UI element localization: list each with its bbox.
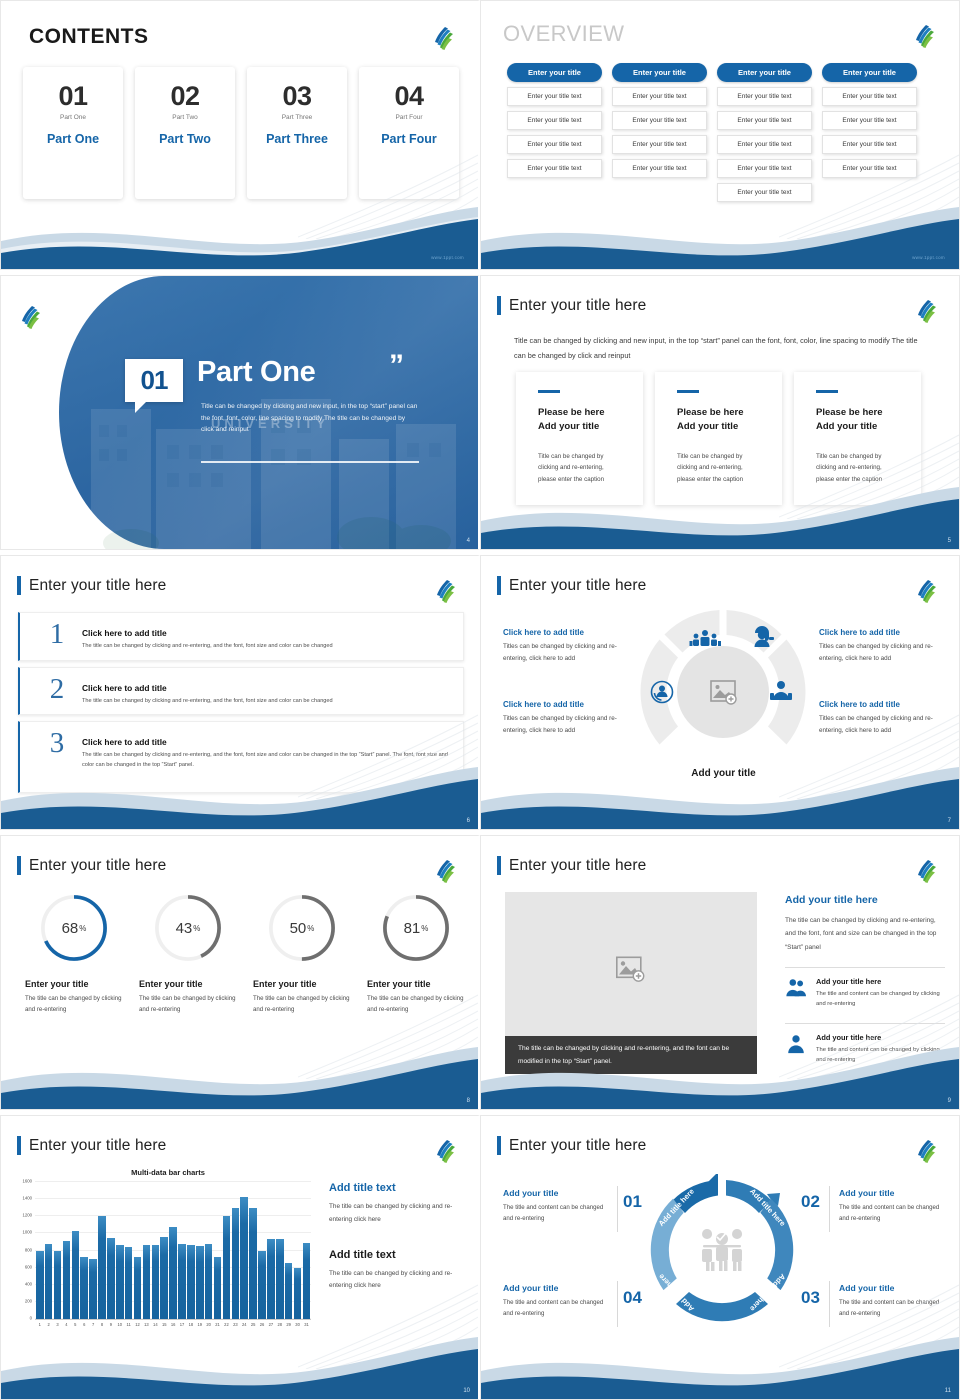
x-tick-label: 19 [196, 1322, 204, 1327]
cycle-block-01: Add your title The title and content can… [503, 1188, 615, 1225]
title-accent-bar [17, 856, 21, 875]
slide-numbered-list: Enter your title here 1 Click here to ad… [0, 555, 480, 830]
card-subtitle: Part Three [247, 114, 347, 121]
bar [54, 1251, 62, 1320]
cycle-divider [829, 1281, 830, 1327]
gauge-heading: Enter your title [253, 979, 351, 989]
page-number: 7 [948, 818, 951, 824]
overview-item[interactable]: Enter your title text [507, 159, 602, 178]
x-tick-label: 9 [107, 1322, 115, 1327]
bar [134, 1257, 142, 1319]
card-subtitle: Part One [23, 114, 123, 121]
page-number: 9 [948, 1098, 951, 1104]
divider-rule [201, 461, 419, 463]
cycle-block-04: Add your title The title and content can… [503, 1283, 615, 1320]
title-accent-bar [497, 576, 501, 595]
leaf-logo-icon [915, 578, 937, 604]
y-tick-label: 600 [25, 1264, 32, 1269]
page-title: Enter your title here [29, 857, 166, 875]
segmented-circle-diagram [636, 604, 811, 794]
overview-item[interactable]: Enter your title text [612, 135, 707, 154]
row-number: 3 [32, 730, 82, 758]
donut-gauge: 50% Enter your title The title can be ch… [253, 891, 351, 1016]
overview-item[interactable]: Enter your title text [822, 111, 917, 130]
cycle-number-04: 04 [623, 1288, 642, 1308]
bar [89, 1259, 97, 1319]
bar [116, 1245, 124, 1319]
overview-item[interactable]: Enter your title text [717, 183, 812, 202]
segment-heading: Click here to add title [503, 628, 631, 637]
right-text-column: Add your title here The title can be cha… [785, 894, 945, 1072]
footer-wave [481, 1337, 959, 1399]
overview-column: Enter your title Enter your title text E… [612, 63, 707, 202]
cycle-body: The title and content can be changed and… [839, 1202, 951, 1225]
cycle-heading: Add your title [503, 1283, 615, 1293]
footer-wave [1, 1047, 478, 1109]
leaf-logo-icon [19, 304, 41, 330]
slide-title-row: Enter your title here [497, 296, 646, 315]
x-tick-label: 14 [152, 1322, 160, 1327]
leaf-logo-icon [915, 858, 937, 884]
bar [169, 1227, 177, 1319]
overview-item[interactable]: Enter your title text [822, 135, 917, 154]
donut-gauge: 43% Enter your title The title can be ch… [139, 891, 237, 1016]
progress-ring: 43% [151, 891, 225, 965]
card-list: Please be here Add your title Title can … [516, 372, 921, 505]
contents-card[interactable]: 04 Part Four Part Four [359, 67, 459, 199]
row-heading: Click here to add title [82, 628, 451, 638]
gauge-value: 68% [37, 891, 111, 965]
overview-item[interactable]: Enter your title text [822, 87, 917, 106]
single-person-icon [785, 1033, 807, 1055]
y-tick-label: 1000 [22, 1230, 32, 1235]
bar [98, 1216, 106, 1319]
row-number: 2 [32, 676, 82, 704]
segment-text-bottom-left: Click here to add title Titles can be ch… [503, 700, 631, 737]
x-tick-label: 3 [54, 1322, 62, 1327]
divider [785, 967, 945, 968]
donut-gauge: 68% Enter your title The title can be ch… [25, 891, 123, 1016]
section-number-badge: 01 [125, 359, 183, 402]
slide-overview: OVERVIEW Enter your title Enter your tit… [480, 0, 960, 270]
bar-chart: Multi-data bar charts 020040060080010001… [11, 1168, 311, 1338]
x-tick-label: 23 [232, 1322, 240, 1327]
y-tick-label: 1200 [22, 1213, 32, 1218]
x-tick-label: 16 [169, 1322, 177, 1327]
slide-three-cards: Enter your title here Title can be chang… [480, 275, 960, 550]
gauge-heading: Enter your title [25, 979, 123, 989]
block-heading: Add title text [329, 1249, 469, 1261]
chart-plot-area: 02004006008001000120014001600 [35, 1182, 311, 1320]
bar [80, 1257, 88, 1319]
bar [178, 1244, 186, 1319]
card-label: Part One [23, 132, 123, 146]
overview-item[interactable]: Enter your title text [507, 87, 602, 106]
row-body: The title can be changed by clicking and… [82, 697, 451, 707]
card-accent-dash [677, 390, 699, 393]
segment-text-top-right: Click here to add title Titles can be ch… [819, 628, 947, 665]
overview-item[interactable]: Enter your title text [612, 159, 707, 178]
section-title: Part One [197, 356, 315, 389]
overview-item[interactable]: Enter your title text [507, 111, 602, 130]
column-header-pill[interactable]: Enter your title [507, 63, 602, 82]
row-body: The title can be changed by clicking and… [82, 642, 451, 652]
x-tick-label: 5 [72, 1322, 80, 1327]
slide-title-row: Enter your title here [17, 1136, 166, 1155]
overview-item[interactable]: Enter your title text [717, 111, 812, 130]
y-tick-label: 800 [25, 1247, 32, 1252]
segment-body: Titles can be changed by clicking and re… [503, 641, 631, 665]
page-title: Enter your title here [509, 297, 646, 315]
watermark-url: www.1ppt.com [431, 255, 464, 260]
x-tick-label: 15 [160, 1322, 168, 1327]
x-tick-label: 8 [98, 1322, 106, 1327]
cycle-body: The title and content can be changed and… [503, 1202, 615, 1225]
bar [152, 1245, 160, 1319]
cycle-number-01: 01 [623, 1192, 642, 1212]
bar [196, 1246, 204, 1319]
page-title: Enter your title here [29, 1137, 166, 1155]
card-label: Part Two [135, 132, 235, 146]
slide-deck: CONTENTS 01 Part One Part One 02 Part Tw… [0, 0, 960, 1400]
segment-text-top-left: Click here to add title Titles can be ch… [503, 628, 631, 665]
footer-wave [481, 207, 959, 269]
bar [303, 1243, 311, 1319]
cycle-number-02: 02 [801, 1192, 820, 1212]
contents-card-list: 01 Part One Part One 02 Part Two Part Tw… [23, 67, 459, 199]
cycle-heading: Add your title [839, 1188, 951, 1198]
overview-item[interactable]: Enter your title text [717, 159, 812, 178]
page-number: 4 [467, 538, 470, 544]
title-accent-bar [497, 296, 501, 315]
card-heading-line1: Please be here [677, 407, 744, 418]
bar [72, 1231, 80, 1319]
overview-item[interactable]: Enter your title text [717, 135, 812, 154]
page-title: Enter your title here [509, 577, 646, 595]
page-number: 5 [948, 538, 951, 544]
segment-heading: Click here to add title [819, 700, 947, 709]
bar [63, 1241, 71, 1319]
footer-wave [1, 1337, 478, 1399]
x-tick-label: 27 [267, 1322, 275, 1327]
item-body: The title and content can be changed by … [816, 1045, 945, 1066]
bar [249, 1208, 257, 1319]
slide-title-row: Enter your title here [497, 856, 646, 875]
leaf-logo-icon [434, 858, 456, 884]
page-title: CONTENTS [29, 25, 149, 49]
overview-item[interactable]: Enter your title text [612, 111, 707, 130]
card-accent-dash [538, 390, 560, 393]
y-tick-label: 400 [25, 1281, 32, 1286]
bar [214, 1257, 222, 1319]
card-subtitle: Part Two [135, 114, 235, 121]
x-tick-label: 18 [187, 1322, 195, 1327]
gauge-body: The title can be changed by clicking and… [367, 993, 465, 1016]
gauge-body: The title can be changed by clicking and… [25, 993, 123, 1016]
numbered-row-list: 1 Click here to add title The title can … [18, 612, 464, 793]
cycle-block-02: Add your title The title and content can… [839, 1188, 951, 1225]
title-accent-bar [17, 576, 21, 595]
card-number: 04 [359, 83, 459, 110]
slide-title-row: Enter your title here [497, 576, 646, 595]
card-heading-line1: Please be here [816, 407, 883, 418]
contents-card[interactable]: 01 Part One Part One [23, 67, 123, 199]
x-tick-label: 6 [80, 1322, 88, 1327]
leaf-logo-icon [913, 23, 935, 49]
contents-card[interactable]: 02 Part Two Part Two [135, 67, 235, 199]
slide-contents: CONTENTS 01 Part One Part One 02 Part Tw… [0, 0, 480, 270]
y-tick-label: 200 [25, 1298, 32, 1303]
chart-title: Multi-data bar charts [25, 1168, 311, 1177]
cycle-block-03: Add your title The title and content can… [839, 1283, 951, 1320]
gauge-heading: Enter your title [139, 979, 237, 989]
cycle-body: The title and content can be changed and… [503, 1297, 615, 1320]
bar [258, 1251, 266, 1320]
x-tick-label: 22 [223, 1322, 231, 1327]
bar [187, 1245, 195, 1319]
item-body: The title and content can be changed by … [816, 989, 945, 1010]
page-title: Enter your title here [509, 1137, 646, 1155]
leaf-logo-icon [432, 25, 454, 51]
card-accent-dash [816, 390, 838, 393]
page-number: 11 [945, 1388, 951, 1394]
leaf-logo-icon [915, 1138, 937, 1164]
leaf-logo-icon [434, 578, 456, 604]
x-tick-label: 26 [258, 1322, 266, 1327]
card-body: Title can be changed by clicking and re-… [816, 451, 899, 485]
content-card[interactable]: Please be here Add your title Title can … [794, 372, 921, 505]
content-card[interactable]: Please be here Add your title Title can … [516, 372, 643, 505]
contents-card[interactable]: 03 Part Three Part Three [247, 67, 347, 199]
x-tick-label: 28 [276, 1322, 284, 1327]
cycle-divider [617, 1186, 618, 1232]
item-heading: Add your title here [816, 977, 945, 986]
page-number: 10 [463, 1388, 470, 1394]
donut-gauge-list: 68% Enter your title The title can be ch… [25, 891, 465, 1016]
bar [143, 1245, 151, 1319]
x-tick-label: 20 [205, 1322, 213, 1327]
segment-heading: Click here to add title [819, 628, 947, 637]
page-title: OVERVIEW [503, 21, 624, 47]
bar [267, 1239, 275, 1319]
title-accent-bar [497, 1136, 501, 1155]
overview-column: Enter your title Enter your title text E… [822, 63, 917, 202]
cycle-divider [617, 1281, 618, 1327]
x-tick-label: 17 [178, 1322, 186, 1327]
bar [107, 1238, 115, 1319]
four-step-cycle-diagram: Add title here Add title here Add title … [646, 1174, 798, 1326]
title-accent-bar [17, 1136, 21, 1155]
numbered-row[interactable]: 1 Click here to add title The title can … [18, 612, 464, 661]
bar [285, 1263, 293, 1319]
x-tick-label: 30 [294, 1322, 302, 1327]
teamwork-icon [702, 1229, 742, 1271]
progress-ring: 50% [265, 891, 339, 965]
overview-columns: Enter your title Enter your title text E… [507, 63, 917, 202]
page-number: 6 [467, 818, 470, 824]
slide-title-row: Enter your title here [497, 1136, 646, 1155]
segment-text-bottom-right: Click here to add title Titles can be ch… [819, 700, 947, 737]
y-tick-label: 0 [30, 1316, 32, 1321]
overview-item[interactable]: Enter your title text [612, 87, 707, 106]
item-heading: Add your title here [816, 1033, 945, 1042]
bar [160, 1237, 168, 1319]
quote-mark-icon: ” [389, 354, 404, 378]
bar [240, 1197, 248, 1319]
card-subtitle: Part Four [359, 114, 459, 121]
gauge-body: The title can be changed by clicking and… [139, 993, 237, 1016]
cycle-heading: Add your title [839, 1283, 951, 1293]
slide-bar-chart: Enter your title here Multi-data bar cha… [0, 1115, 480, 1400]
cycle-heading: Add your title [503, 1188, 615, 1198]
section-body-text: Title can be changed by clicking and new… [201, 401, 419, 436]
card-label: Part Three [247, 132, 347, 146]
watermark-url: www.1ppt.com [912, 255, 945, 260]
overview-item[interactable]: Enter your title text [717, 87, 812, 106]
gauge-body: The title can be changed by clicking and… [253, 993, 351, 1016]
cycle-number-03: 03 [801, 1288, 820, 1308]
gauge-heading: Enter your title [367, 979, 465, 989]
card-label: Part Four [359, 132, 459, 146]
y-tick-label: 1600 [22, 1179, 32, 1184]
bar [125, 1247, 133, 1319]
segment-body: Titles can be changed by clicking and re… [503, 713, 631, 737]
card-heading-line2: Add your title [677, 421, 738, 432]
bar [294, 1268, 302, 1319]
card-number: 01 [23, 83, 123, 110]
segment-body: Titles can be changed by clicking and re… [819, 713, 947, 737]
card-heading-line2: Add your title [538, 421, 599, 432]
numbered-row[interactable]: 2 Click here to add title The title can … [18, 667, 464, 716]
x-tick-label: 2 [45, 1322, 53, 1327]
lead-paragraph: Title can be changed by clicking and new… [514, 334, 919, 364]
x-tick-label: 7 [89, 1322, 97, 1327]
right-heading: Add your title here [785, 894, 945, 906]
diagram-caption: Add your title [636, 768, 811, 779]
numbered-row[interactable]: 3 Click here to add title The title can … [18, 721, 464, 793]
y-tick-label: 1400 [22, 1196, 32, 1201]
page-title: Enter your title here [29, 577, 166, 595]
x-tick-label: 21 [214, 1322, 222, 1327]
chart-bars [35, 1182, 311, 1319]
overview-column: Enter your title Enter your title text E… [507, 63, 602, 202]
slide-title-row: Enter your title here [17, 576, 166, 595]
bar [276, 1239, 284, 1319]
bar [223, 1216, 231, 1319]
right-body: The title can be changed by clicking and… [785, 914, 945, 954]
bar [205, 1244, 213, 1319]
segment-body: Titles can be changed by clicking and re… [819, 641, 947, 665]
x-tick-label: 31 [303, 1322, 311, 1327]
gauge-value: 43% [151, 891, 225, 965]
x-tick-label: 25 [249, 1322, 257, 1327]
row-number: 1 [32, 621, 82, 649]
slide-image-text: Enter your title here The title c [480, 835, 960, 1110]
x-tick-label: 10 [116, 1322, 124, 1327]
block-body: The title can be changed by clicking and… [329, 1201, 469, 1227]
overview-item[interactable]: Enter your title text [822, 159, 917, 178]
column-header-pill[interactable]: Enter your title [612, 63, 707, 82]
slide-circle-segments: Enter your title here Click here to add … [480, 555, 960, 830]
progress-ring: 68% [37, 891, 111, 965]
divider [785, 1023, 945, 1024]
x-tick-label: 24 [240, 1322, 248, 1327]
slide-cycle-diagram: Enter your title here Add your title The… [480, 1115, 960, 1400]
overview-column: Enter your title Enter your title text E… [717, 63, 812, 202]
cycle-body: The title and content can be changed and… [839, 1297, 951, 1320]
gauge-value: 81% [379, 891, 453, 965]
card-body: Title can be changed by clicking and re-… [677, 451, 760, 485]
image-placeholder-icon [616, 957, 646, 988]
footer-wave [1, 207, 478, 269]
card-body: Title can be changed by clicking and re-… [538, 451, 621, 485]
page-number: 8 [467, 1098, 470, 1104]
block-heading: Add title text [329, 1182, 469, 1194]
leaf-logo-icon [434, 1138, 456, 1164]
row-heading: Click here to add title [82, 683, 451, 693]
x-tick-label: 1 [36, 1322, 44, 1327]
two-people-icon [785, 977, 807, 999]
overview-item[interactable]: Enter your title text [507, 135, 602, 154]
column-header-pill[interactable]: Enter your title [822, 63, 917, 82]
x-tick-label: 11 [125, 1322, 133, 1327]
bar [232, 1208, 240, 1319]
image-caption: The title can be changed by clicking and… [505, 1036, 757, 1074]
donut-gauge: 81% Enter your title The title can be ch… [367, 891, 465, 1016]
x-tick-label: 29 [285, 1322, 293, 1327]
leaf-logo-icon [915, 298, 937, 324]
right-text-blocks: Add title text The title can be changed … [329, 1182, 469, 1293]
title-accent-bar [497, 856, 501, 875]
bar [36, 1251, 44, 1319]
gauge-value: 50% [265, 891, 339, 965]
x-tick-label: 12 [134, 1322, 142, 1327]
slide-donut-gauges: Enter your title here 68% Enter your t [0, 835, 480, 1110]
card-number: 02 [135, 83, 235, 110]
slide-part-one-divider: UNIVERSITY 01 Part One ” Title can be ch… [0, 275, 480, 550]
segment-heading: Click here to add title [503, 700, 631, 709]
row-heading: Click here to add title [82, 737, 451, 747]
x-tick-label: 13 [143, 1322, 151, 1327]
card-heading-line1: Please be here [538, 407, 605, 418]
cycle-divider [829, 1186, 830, 1232]
hero-panel: UNIVERSITY 01 Part One ” Title can be ch… [1, 276, 478, 549]
slide-title-row: Enter your title here [17, 856, 166, 875]
chart-x-axis: 1234567891011121314151617181920212223242… [35, 1320, 311, 1327]
column-header-pill[interactable]: Enter your title [717, 63, 812, 82]
bar [45, 1244, 53, 1319]
progress-ring: 81% [379, 891, 453, 965]
row-body: The title can be changed by clicking and… [82, 751, 451, 770]
icon-list-item[interactable]: Add your title here The title and conten… [785, 977, 945, 1010]
content-card[interactable]: Please be here Add your title Title can … [655, 372, 782, 505]
card-heading-line2: Add your title [816, 421, 877, 432]
icon-list-item[interactable]: Add your title here The title and conten… [785, 1033, 945, 1066]
card-number: 03 [247, 83, 347, 110]
block-body: The title can be changed by clicking and… [329, 1268, 469, 1294]
page-title: Enter your title here [509, 857, 646, 875]
x-tick-label: 4 [63, 1322, 71, 1327]
